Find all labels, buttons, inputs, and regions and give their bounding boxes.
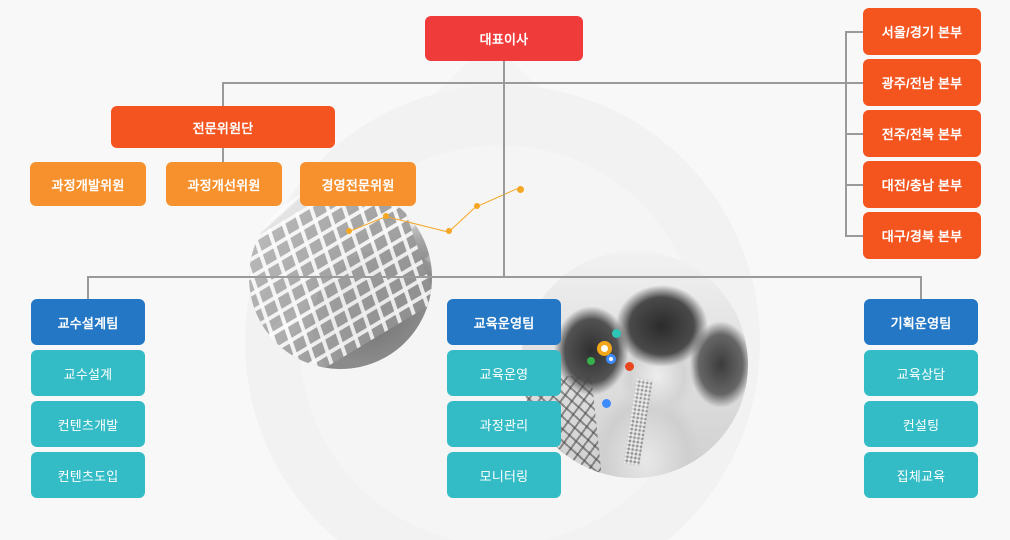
line-ceo-to-teams [503, 82, 505, 276]
node-region-label: 서울/경기 본부 [882, 22, 963, 41]
people-tie [623, 378, 652, 465]
node-subteam-label: 과정관리 [480, 415, 529, 434]
node-team-0-sub-0[interactable]: 교수설계 [31, 350, 145, 396]
node-team-label: 교수설계팀 [58, 313, 119, 332]
node-team-1-sub-0[interactable]: 교육운영 [447, 350, 561, 396]
node-ceo-label: 대표이사 [480, 29, 529, 48]
laptop-shadow [312, 249, 432, 369]
node-team-2[interactable]: 기획운영팀 [864, 299, 978, 345]
dot-connector-line [477, 188, 518, 207]
line-committee-down [222, 82, 224, 108]
node-ceo[interactable]: 대표이사 [425, 16, 583, 61]
line-region-stub [845, 235, 863, 237]
laptop-dot [474, 203, 480, 209]
node-region-label: 대구/경북 본부 [882, 226, 963, 245]
dot-connector-line [449, 205, 477, 232]
line-team-bus [87, 276, 921, 278]
node-subteam-label: 교수설계 [64, 364, 113, 383]
laptop-dot [346, 228, 352, 234]
node-region-2[interactable]: 전주/전북 본부 [863, 110, 981, 157]
node-committee-member-label: 경영전문위원 [322, 175, 395, 194]
node-expert-committee[interactable]: 전문위원단 [111, 106, 335, 148]
node-team-2-sub-0[interactable]: 교육상담 [864, 350, 978, 396]
green-dot [587, 357, 595, 365]
node-region-4[interactable]: 대구/경북 본부 [863, 212, 981, 259]
node-committee-member-2[interactable]: 경영전문위원 [300, 162, 416, 206]
node-subteam-label: 모니터링 [480, 466, 529, 485]
node-region-1[interactable]: 광주/전남 본부 [863, 59, 981, 106]
node-team-1-sub-2[interactable]: 모니터링 [447, 452, 561, 498]
line-region-stub [845, 82, 863, 84]
node-subteam-label: 교육상담 [897, 364, 946, 383]
line-top-bus [222, 82, 846, 84]
node-region-label: 전주/전북 본부 [882, 124, 963, 143]
node-expert-committee-label: 전문위원단 [193, 118, 254, 137]
line-region-stub [845, 31, 863, 33]
node-subteam-label: 컨텐츠도입 [58, 466, 119, 485]
node-region-label: 대전/충남 본부 [882, 175, 963, 194]
node-subteam-label: 교육운영 [480, 364, 529, 383]
node-committee-member-label: 과정개발위원 [52, 175, 125, 194]
node-team-0[interactable]: 교수설계팀 [31, 299, 145, 345]
teal-dot [612, 329, 621, 338]
node-team-0-sub-1[interactable]: 컨텐츠개발 [31, 401, 145, 447]
blue-ring [606, 354, 616, 364]
node-team-1[interactable]: 교육운영팀 [447, 299, 561, 345]
node-committee-member-0[interactable]: 과정개발위원 [30, 162, 146, 206]
node-region-label: 광주/전남 본부 [882, 73, 963, 92]
organization-chart: 대표이사 전문위원단 과정개발위원 과정개선위원 경영전문위원 서울/경기 본부… [0, 0, 1010, 540]
blue-dot [602, 399, 611, 408]
node-committee-member-label: 과정개선위원 [188, 175, 261, 194]
node-team-0-sub-2[interactable]: 컨텐츠도입 [31, 452, 145, 498]
line-region-stub [845, 184, 863, 186]
laptop-dot [517, 186, 524, 193]
dot-connector-line [349, 216, 386, 232]
line-team-left-down [87, 276, 89, 299]
node-team-label: 기획운영팀 [891, 313, 952, 332]
line-region-stub [845, 133, 863, 135]
node-team-2-sub-1[interactable]: 컨설팅 [864, 401, 978, 447]
node-committee-member-1[interactable]: 과정개선위원 [166, 162, 282, 206]
amber-ring [597, 341, 612, 356]
line-ceo-down [503, 60, 505, 83]
node-team-1-sub-1[interactable]: 과정관리 [447, 401, 561, 447]
node-team-2-sub-2[interactable]: 집체교육 [864, 452, 978, 498]
orange-dot [625, 362, 634, 371]
laptop-dot [446, 228, 452, 234]
line-team-right-down [920, 276, 922, 299]
node-subteam-label: 컨설팅 [903, 415, 939, 434]
laptop-dot [383, 213, 389, 219]
node-team-label: 교육운영팀 [474, 313, 535, 332]
node-subteam-label: 집체교육 [897, 466, 946, 485]
node-region-0[interactable]: 서울/경기 본부 [863, 8, 981, 55]
watermark-wedge [255, 40, 725, 270]
dot-connector-line [386, 216, 448, 232]
node-region-3[interactable]: 대전/충남 본부 [863, 161, 981, 208]
node-subteam-label: 컨텐츠개발 [58, 415, 119, 434]
